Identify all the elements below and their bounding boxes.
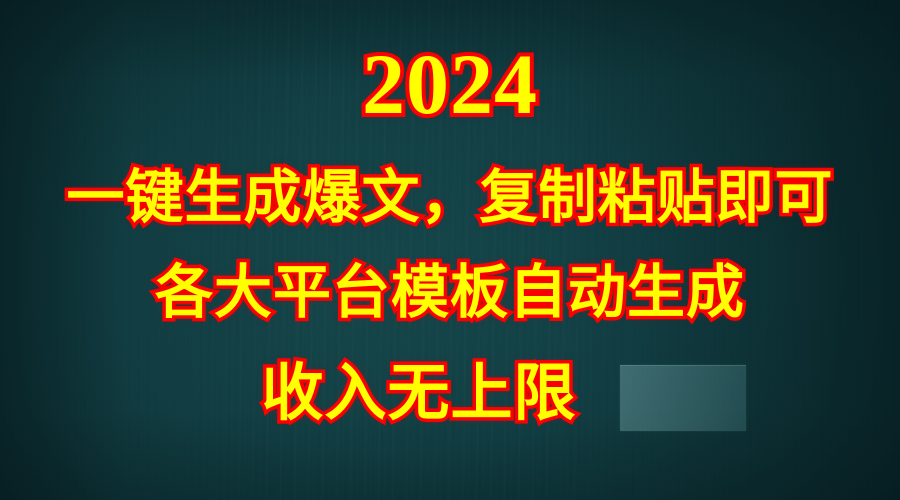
- promo-banner: 2024 一键生成爆文，复制粘贴即可 各大平台模板自动生成 收入无上限: [0, 0, 900, 500]
- headline-platform: 各大平台模板自动生成: [0, 259, 900, 325]
- redaction-box: [620, 365, 746, 431]
- headline-year: 2024: [0, 38, 900, 130]
- headline-income: 收入无上限: [0, 357, 900, 429]
- headline-feature: 一键生成爆文，复制粘贴即可: [0, 164, 900, 230]
